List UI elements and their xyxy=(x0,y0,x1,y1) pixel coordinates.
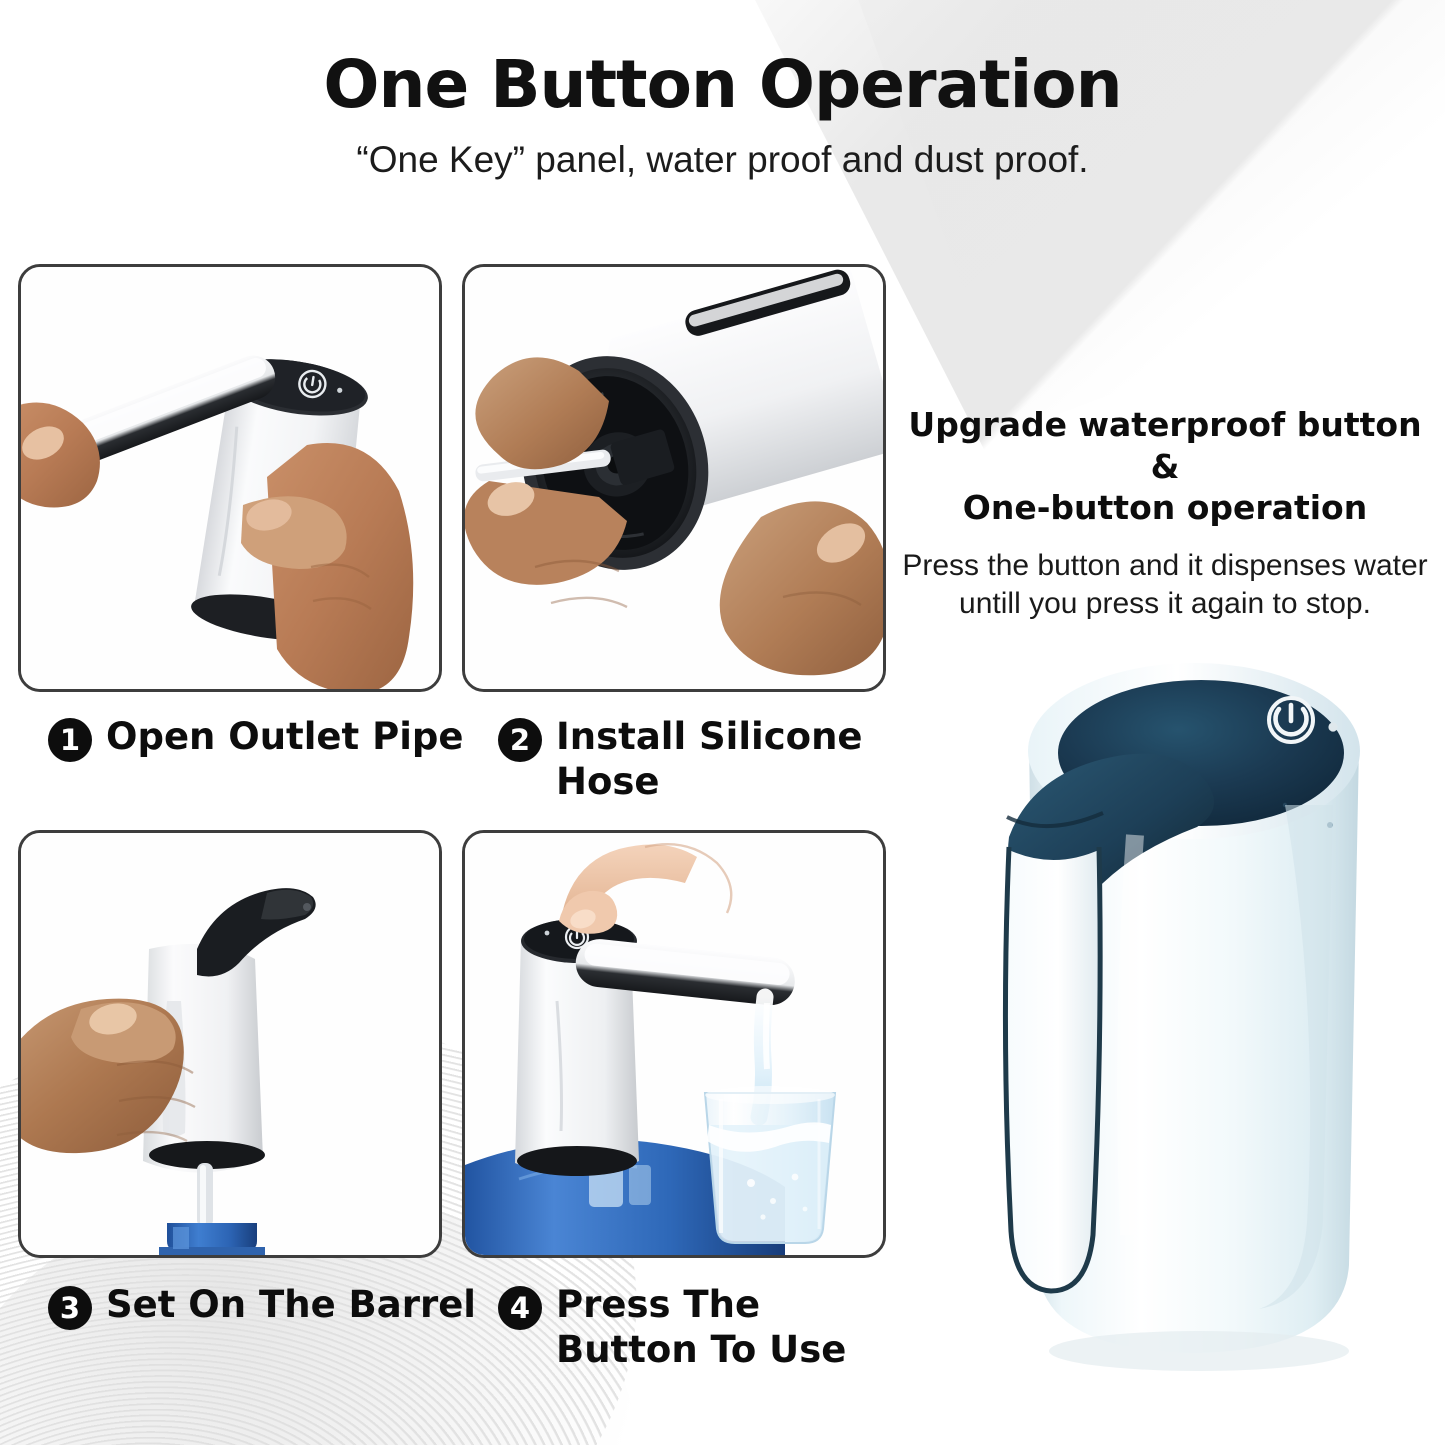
step-3-label: Set On The Barrel xyxy=(106,1282,476,1327)
step-panel-3 xyxy=(18,830,442,1258)
infographic-page: One Button Operation “One Key” panel, wa… xyxy=(0,0,1445,1445)
step-4-illustration xyxy=(465,833,883,1255)
step-4-photo xyxy=(465,833,883,1255)
feature-heading-line-2: One-button operation xyxy=(900,487,1430,529)
step-panel-2 xyxy=(462,264,886,692)
hero-product-image xyxy=(985,625,1405,1415)
step-4-caption: 4 Press The Button To Use xyxy=(498,1282,886,1372)
step-4-label: Press The Button To Use xyxy=(556,1282,886,1372)
step-1-photo xyxy=(21,267,439,689)
step-2-illustration xyxy=(465,267,883,689)
feature-copy: Upgrade waterproof button & One-button o… xyxy=(900,404,1430,623)
feature-body: Press the button and it dispenses water … xyxy=(900,547,1430,623)
step-1-illustration xyxy=(21,267,439,689)
feature-heading-line-1: Upgrade waterproof button & xyxy=(900,404,1430,487)
step-1-label: Open Outlet Pipe xyxy=(106,714,463,759)
feature-heading: Upgrade waterproof button & One-button o… xyxy=(900,404,1430,529)
step-1-caption: 1 Open Outlet Pipe xyxy=(48,714,463,762)
step-3-illustration xyxy=(21,833,439,1255)
step-4-badge: 4 xyxy=(498,1286,542,1330)
step-2-photo xyxy=(465,267,883,689)
led-dot xyxy=(1328,722,1337,731)
page-subtitle: “One Key” panel, water proof and dust pr… xyxy=(0,123,1445,181)
step-2-badge: 2 xyxy=(498,718,542,762)
step-2-label: Install Silicone Hose xyxy=(556,714,886,804)
step-panel-4 xyxy=(462,830,886,1258)
step-3-badge: 3 xyxy=(48,1286,92,1330)
step-1-badge: 1 xyxy=(48,718,92,762)
header: One Button Operation “One Key” panel, wa… xyxy=(0,0,1445,181)
hero-illustration xyxy=(985,625,1405,1415)
power-icon xyxy=(1269,698,1313,742)
step-3-photo xyxy=(21,833,439,1255)
step-3-caption: 3 Set On The Barrel xyxy=(48,1282,476,1330)
page-title: One Button Operation xyxy=(0,0,1445,123)
step-panel-1 xyxy=(18,264,442,692)
spout-front-face xyxy=(1005,849,1102,1293)
step-2-caption: 2 Install Silicone Hose xyxy=(498,714,886,804)
